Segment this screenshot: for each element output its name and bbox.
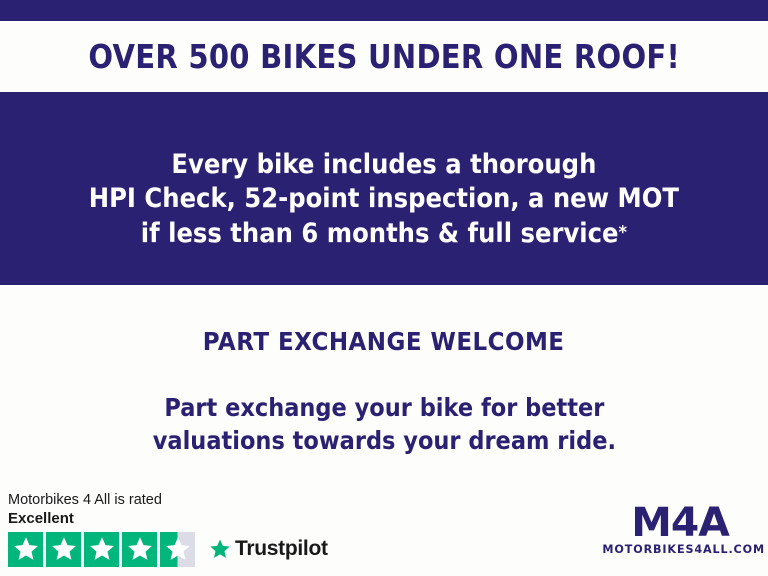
trustpilot-stars — [8, 532, 195, 567]
star-icon — [46, 532, 81, 567]
trustpilot-widget[interactable]: Motorbikes 4 All is rated Excellent — [8, 491, 328, 567]
inclusions-line-1: Every bike includes a thorough — [89, 148, 679, 183]
star-icon — [122, 532, 157, 567]
trustpilot-star-icon — [209, 538, 231, 560]
inclusions-line-3-text: if less than 6 months & full service — [141, 218, 619, 249]
headline-band: OVER 500 BIKES UNDER ONE ROOF! — [0, 21, 768, 92]
trustpilot-brand-text: Trustpilot — [235, 537, 328, 561]
part-exchange-sub-line-2: valuations towards your dream ride. — [152, 425, 615, 458]
page-title: OVER 500 BIKES UNDER ONE ROOF! — [88, 40, 680, 73]
logo-mark-text: M4A — [598, 504, 761, 542]
part-exchange-title: PART EXCHANGE WELCOME — [203, 329, 565, 354]
inclusions-panel: Every bike includes a thorough HPI Check… — [0, 92, 768, 285]
asterisk-marker: * — [619, 222, 627, 243]
part-exchange-section: PART EXCHANGE WELCOME Part exchange your… — [0, 285, 768, 488]
promo-banner: OVER 500 BIKES UNDER ONE ROOF! Every bik… — [0, 0, 768, 576]
trustpilot-rated-text: Motorbikes 4 All is rated — [8, 491, 328, 509]
logo-subtitle-text: MOTORBIKES4ALL.COM — [602, 543, 757, 557]
trustpilot-rating-row: Trustpilot — [8, 532, 328, 567]
star-icon — [8, 532, 43, 567]
inclusions-text: Every bike includes a thorough HPI Check… — [89, 148, 679, 252]
trustpilot-rating-label: Excellent — [8, 509, 328, 529]
footer-bar: Motorbikes 4 All is rated Excellent — [0, 488, 768, 576]
top-blue-strip — [0, 0, 768, 21]
trustpilot-brand[interactable]: Trustpilot — [209, 537, 328, 561]
inclusions-line-2: HPI Check, 52-point inspection, a new MO… — [89, 182, 679, 217]
star-half-icon — [160, 532, 195, 567]
star-icon — [84, 532, 119, 567]
m4a-logo[interactable]: M4A MOTORBIKES4ALL.COM — [600, 504, 760, 557]
inclusions-line-3: if less than 6 months & full service* — [89, 217, 679, 252]
part-exchange-sub-line-1: Part exchange your bike for better — [152, 392, 615, 425]
part-exchange-subtext: Part exchange your bike for better valua… — [152, 392, 615, 457]
